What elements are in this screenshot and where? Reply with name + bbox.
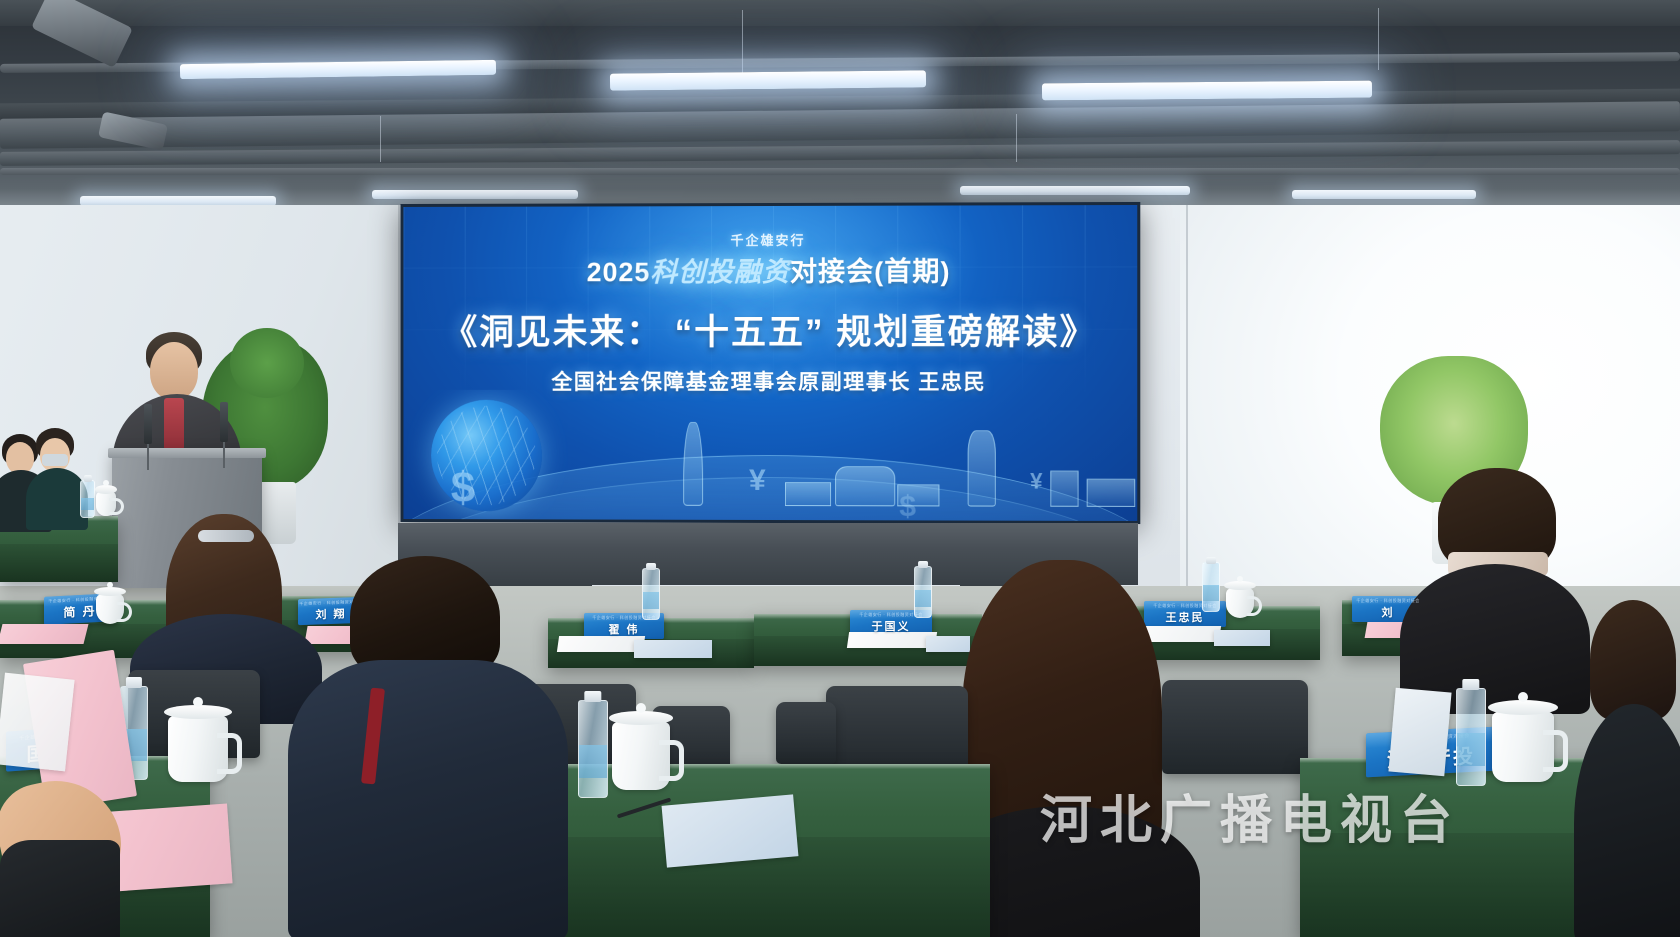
screen-kicker-text: 千企雄安行 [403, 229, 1137, 250]
screenshot-root: 千企雄安行 2025科创投融资对接会(首期) 《洞见未来： “十五五” 规划重磅… [0, 0, 1680, 937]
headline-year: 2025 [587, 257, 651, 287]
dollar-sign-icon: $ [451, 463, 475, 513]
teacup-foreground-right[interactable] [1492, 712, 1554, 782]
headline-highlight: 科创投融资 [650, 257, 790, 287]
hair-clip [198, 530, 254, 542]
ceiling-beam-1 [0, 0, 1680, 26]
attendee-foreground-midleft [258, 556, 598, 937]
placard-name-text: 于国义 [872, 613, 911, 634]
city-skyline-block-3 [1050, 471, 1078, 507]
teacup-row2-right [1226, 588, 1254, 618]
city-skyline-hall [835, 466, 895, 506]
attendee-foreground-far-right [1580, 600, 1680, 937]
booklet-foreground-center[interactable] [662, 794, 799, 867]
teacup-foreground-left[interactable] [168, 716, 228, 782]
ceiling-tube-light-1 [180, 60, 496, 79]
podium-top [108, 448, 266, 458]
screen-headline: 2025科创投融资对接会(首期) [403, 249, 1137, 289]
light-hanger-1 [742, 10, 743, 74]
ceiling-tube-light-6 [960, 186, 1190, 195]
placard-name-text: 刘 [1382, 599, 1395, 620]
microphone-right [220, 402, 228, 442]
face-mask [42, 454, 68, 466]
light-hanger-2 [1378, 8, 1379, 70]
staff-person-2 [26, 428, 84, 524]
headline-tail: 对接会(首期) [790, 257, 951, 287]
ceiling-tube-light-5 [372, 190, 578, 199]
booklet-foreground-right[interactable] [1388, 688, 1451, 777]
attendee-seated-right [1390, 468, 1580, 698]
ceiling-tube-light-4 [80, 196, 276, 205]
placard-name-text: 翟 伟 [608, 616, 639, 637]
attendee-torso [288, 660, 568, 937]
yuan-sign-icon-1: ¥ [749, 464, 766, 498]
microphone-left [144, 404, 152, 444]
teacup-foreground-center[interactable] [612, 722, 670, 790]
globe-network-icon [431, 400, 542, 512]
water-bottle-foreground-right[interactable] [1456, 688, 1486, 786]
screen-bottom-graphics: $ ¥ ¥ $ [403, 390, 1137, 521]
ceiling-tube-light-7 [1292, 190, 1476, 199]
water-bottle-centerright [914, 566, 932, 618]
attendee-sleeve-foreground [0, 840, 120, 937]
document-foreground-white[interactable] [0, 673, 75, 772]
ceiling-pipe-2 [0, 168, 1680, 175]
water-bottle-staff [80, 480, 95, 518]
light-hanger-3 [380, 116, 381, 162]
presentation-screen[interactable]: 千企雄安行 2025科创投融资对接会(首期) 《洞见未来： “十五五” 规划重磅… [400, 202, 1140, 524]
chair-foreground-small-2[interactable] [776, 702, 836, 764]
chair-foreground-right[interactable] [1162, 680, 1308, 774]
placard-name-text: 简 丹 [63, 597, 96, 621]
document-row2-left[interactable] [0, 624, 88, 644]
ceiling-tube-light-2 [610, 70, 926, 90]
city-skyline-block-4 [1087, 479, 1136, 507]
city-skyline-tower-1 [683, 422, 703, 506]
speaker-tie [164, 398, 184, 450]
document-row2-centerright[interactable] [847, 632, 937, 648]
water-bottle-center [642, 568, 660, 620]
placard-name-text: 王忠民 [1166, 604, 1205, 625]
screen-surface: 千企雄安行 2025科创投融资对接会(首期) 《洞见未来： “十五五” 规划重磅… [403, 205, 1137, 521]
light-hanger-4 [1016, 114, 1017, 162]
city-skyline-block-2 [897, 484, 939, 506]
city-skyline-block-1 [785, 482, 831, 506]
teacup-row2-left [96, 594, 124, 624]
ceiling-tube-light-3 [1042, 81, 1372, 101]
city-skyline-tower-2 [968, 430, 996, 506]
ceiling [0, 0, 1680, 205]
booklet-row2-center[interactable] [634, 640, 712, 658]
teacup-staff [96, 492, 116, 516]
screen-title: 《洞见未来： “十五五” 规划重磅解读》 [403, 304, 1137, 355]
booklet-row2-farright[interactable] [1214, 630, 1270, 646]
yuan-sign-icon-2: ¥ [1030, 468, 1042, 494]
